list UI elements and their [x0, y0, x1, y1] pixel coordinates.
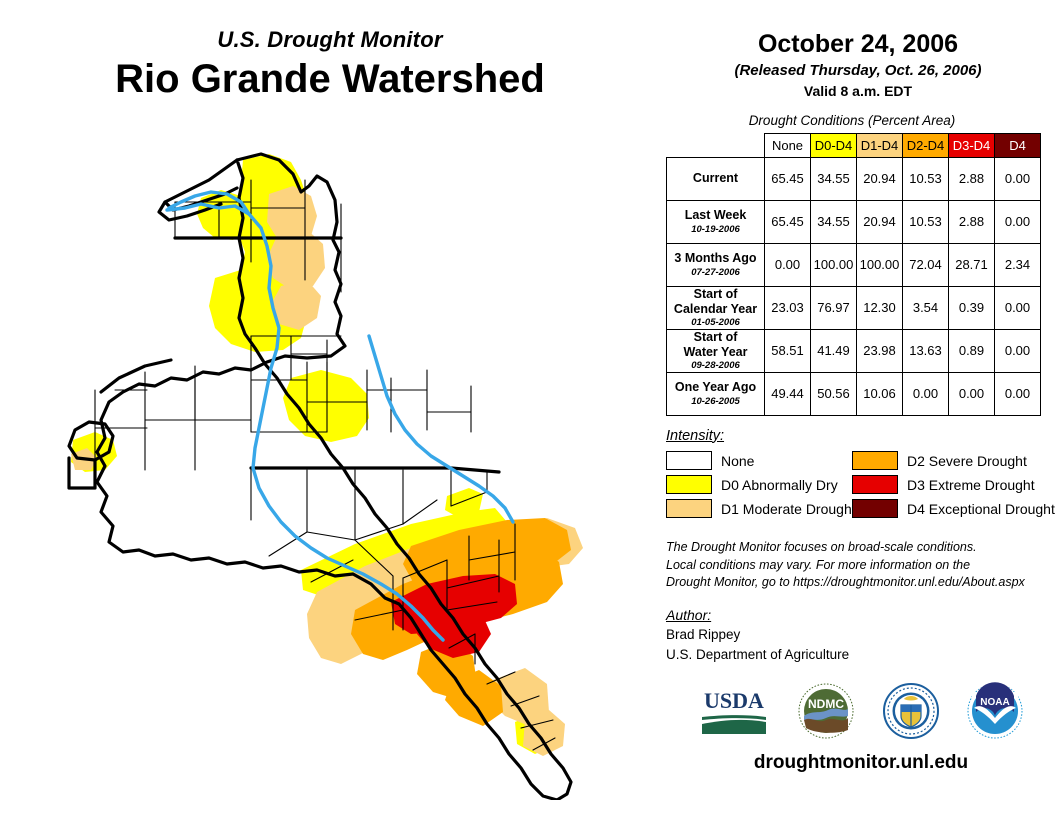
- cell-value: 20.94: [857, 157, 903, 200]
- legend-item-none: None: [666, 451, 852, 470]
- cell-value: 10.06: [857, 372, 903, 415]
- right-panel: October 24, 2006 (Released Thursday, Oct…: [660, 0, 1056, 816]
- disclaimer-line-3: Drought Monitor, go to https://droughtmo…: [666, 574, 1056, 592]
- legend-item-d4: D4 Exceptional Drought: [852, 499, 1056, 518]
- logo-row: USDA NDMC: [660, 682, 1056, 740]
- conditions-table-wrap: None D0-D4 D1-D4 D2-D4 D3-D4 D4 Current …: [660, 133, 1056, 416]
- cell-value: 65.45: [765, 200, 811, 243]
- row-label-one-year-ago: One Year Ago 10-26-2005: [667, 372, 765, 415]
- drought-map[interactable]: [55, 140, 655, 800]
- cell-value: 10.53: [903, 157, 949, 200]
- legend-label: D0 Abnormally Dry: [721, 477, 838, 493]
- row-title: Current: [693, 171, 738, 185]
- cell-value: 100.00: [811, 243, 857, 286]
- table-header-row: None D0-D4 D1-D4 D2-D4 D3-D4 D4: [667, 133, 1041, 157]
- author-affiliation: U.S. Department of Agriculture: [666, 645, 1056, 665]
- cell-value: 28.71: [949, 243, 995, 286]
- cell-value: 0.00: [903, 372, 949, 415]
- disclaimer-block: The Drought Monitor focuses on broad-sca…: [660, 539, 1056, 592]
- col-header-d2d4: D2-D4: [903, 133, 949, 157]
- cell-value: 65.45: [765, 157, 811, 200]
- cell-value: 72.04: [903, 243, 949, 286]
- author-title: Author:: [666, 607, 1056, 623]
- cell-value: 34.55: [811, 157, 857, 200]
- table-row: Current 65.45 34.55 20.94 10.53 2.88 0.0…: [667, 157, 1041, 200]
- title-block: U.S. Drought Monitor Rio Grande Watershe…: [0, 28, 660, 102]
- row-label-start-of-calendar-year: Start ofCalendar Year 01-05-2006: [667, 286, 765, 329]
- valid-time: Valid 8 a.m. EDT: [660, 83, 1056, 99]
- site-url[interactable]: droughtmonitor.unl.edu: [660, 752, 1056, 774]
- noaa-logo-text: NOAA: [980, 697, 1009, 708]
- row-date: 07-27-2006: [667, 267, 764, 278]
- cell-value: 0.00: [765, 243, 811, 286]
- cell-value: 10.53: [903, 200, 949, 243]
- legend-label: D4 Exceptional Drought: [907, 501, 1055, 517]
- cell-value: 0.39: [949, 286, 995, 329]
- row-label-current: Current: [667, 157, 765, 200]
- cell-value: 49.44: [765, 372, 811, 415]
- row-date: 01-05-2006: [667, 317, 764, 328]
- legend-item-d1: D1 Moderate Drought: [666, 499, 852, 518]
- table-row: One Year Ago 10-26-2005 49.44 50.56 10.0…: [667, 372, 1041, 415]
- noaa-logo[interactable]: NOAA: [966, 682, 1024, 740]
- cell-value: 12.30: [857, 286, 903, 329]
- table-row: Start ofCalendar Year 01-05-2006 23.03 7…: [667, 286, 1041, 329]
- cell-value: 100.00: [857, 243, 903, 286]
- cell-value: 13.63: [903, 329, 949, 372]
- date-block: October 24, 2006 (Released Thursday, Oct…: [660, 0, 1056, 99]
- cell-value: 0.00: [995, 200, 1041, 243]
- swatch-d1: [666, 499, 712, 518]
- table-row: 3 Months Ago 07-27-2006 0.00 100.00 100.…: [667, 243, 1041, 286]
- col-header-d4: D4: [995, 133, 1041, 157]
- row-title: Start ofWater Year: [684, 330, 748, 359]
- row-label-3-months-ago: 3 Months Ago 07-27-2006: [667, 243, 765, 286]
- col-header-d0d4: D0-D4: [811, 133, 857, 157]
- cell-value: 50.56: [811, 372, 857, 415]
- report-date: October 24, 2006: [660, 30, 1056, 59]
- map-svg[interactable]: [55, 140, 655, 800]
- legend-label: D3 Extreme Drought: [907, 477, 1035, 493]
- disclaimer-line-1: The Drought Monitor focuses on broad-sca…: [666, 539, 1056, 557]
- cell-value: 41.49: [811, 329, 857, 372]
- cell-value: 0.00: [995, 372, 1041, 415]
- row-label-last-week: Last Week 10-19-2006: [667, 200, 765, 243]
- legend-item-d0: D0 Abnormally Dry: [666, 475, 852, 494]
- legend-label: D2 Severe Drought: [907, 453, 1027, 469]
- row-date: 10-19-2006: [667, 224, 764, 235]
- release-date: (Released Thursday, Oct. 26, 2006): [660, 62, 1056, 79]
- cell-value: 20.94: [857, 200, 903, 243]
- legend-item-d2: D2 Severe Drought: [852, 451, 1056, 470]
- swatch-d0: [666, 475, 712, 494]
- row-date: 09-28-2006: [667, 360, 764, 371]
- row-title: Last Week: [685, 208, 747, 222]
- author-block: Author: Brad Rippey U.S. Department of A…: [660, 607, 1056, 664]
- col-header-d1d4: D1-D4: [857, 133, 903, 157]
- swatch-d4: [852, 499, 898, 518]
- usdc-seal[interactable]: [882, 682, 940, 740]
- author-name: Brad Rippey: [666, 625, 1056, 645]
- table-row: Start ofWater Year 09-28-2006 58.51 41.4…: [667, 329, 1041, 372]
- row-title: Start ofCalendar Year: [674, 287, 757, 316]
- drought-conditions-table: None D0-D4 D1-D4 D2-D4 D3-D4 D4 Current …: [666, 133, 1041, 416]
- cell-value: 2.34: [995, 243, 1041, 286]
- legend-grid: None D2 Severe Drought D0 Abnormally Dry…: [666, 449, 1056, 521]
- legend-label: D1 Moderate Drought: [721, 501, 856, 517]
- swatch-d2: [852, 451, 898, 470]
- cell-value: 23.98: [857, 329, 903, 372]
- usda-logo[interactable]: USDA: [698, 684, 770, 738]
- page-title: Rio Grande Watershed: [0, 56, 660, 102]
- legend-label: None: [721, 453, 754, 469]
- cell-value: 3.54: [903, 286, 949, 329]
- legend-item-d3: D3 Extreme Drought: [852, 475, 1056, 494]
- ndmc-logo[interactable]: NDMC: [796, 682, 856, 740]
- intensity-title: Intensity:: [666, 428, 1056, 444]
- swatch-d3: [852, 475, 898, 494]
- program-title: U.S. Drought Monitor: [0, 28, 660, 52]
- cell-value: 23.03: [765, 286, 811, 329]
- cell-value: 0.00: [995, 157, 1041, 200]
- col-header-d3d4: D3-D4: [949, 133, 995, 157]
- table-row: Last Week 10-19-2006 65.45 34.55 20.94 1…: [667, 200, 1041, 243]
- disclaimer-line-2: Local conditions may vary. For more info…: [666, 557, 1056, 575]
- cell-value: 34.55: [811, 200, 857, 243]
- row-date: 10-26-2005: [667, 396, 764, 407]
- cell-value: 0.00: [995, 329, 1041, 372]
- row-title: 3 Months Ago: [674, 251, 756, 265]
- col-header-none: None: [765, 133, 811, 157]
- table-caption: Drought Conditions (Percent Area): [660, 113, 1056, 128]
- row-label-start-of-water-year: Start ofWater Year 09-28-2006: [667, 329, 765, 372]
- table-corner-cell: [667, 133, 765, 157]
- intensity-legend: Intensity: None D2 Severe Drought D0 Abn…: [660, 428, 1056, 521]
- cell-value: 0.00: [949, 372, 995, 415]
- ndmc-logo-text: NDMC: [808, 697, 844, 711]
- cell-value: 0.00: [995, 286, 1041, 329]
- usda-logo-text: USDA: [704, 688, 764, 713]
- cell-value: 2.88: [949, 157, 995, 200]
- cell-value: 0.89: [949, 329, 995, 372]
- cell-value: 58.51: [765, 329, 811, 372]
- swatch-none: [666, 451, 712, 470]
- cell-value: 76.97: [811, 286, 857, 329]
- cell-value: 2.88: [949, 200, 995, 243]
- row-title: One Year Ago: [675, 380, 756, 394]
